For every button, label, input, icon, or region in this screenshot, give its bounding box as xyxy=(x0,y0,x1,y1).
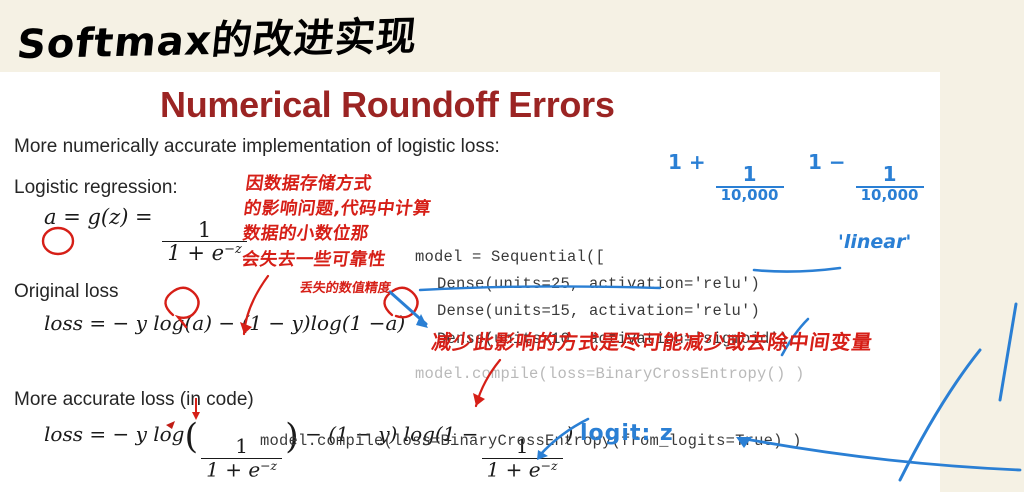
acc-loss-open-paren: ( xyxy=(184,417,198,457)
blue-fraction-minus-prefix: 1 − xyxy=(808,150,846,174)
slide-panel: Numerical Roundoff Errors More numerical… xyxy=(0,72,940,492)
annotation-zh-line-1: 因数据存储方式 xyxy=(244,170,374,195)
annotation-zh-main-note: 减少此影响的方式是尽可能减少或去除中间变量 xyxy=(430,326,875,355)
annotation-zh-line-3: 数据的小数位那 xyxy=(241,220,371,245)
page-title: Softmax的改进实现 xyxy=(15,4,421,70)
lead-text: More numerically accurate implementation… xyxy=(14,136,500,158)
acc-loss-term1: − y log xyxy=(112,422,184,446)
annotation-blue-logit: logit: z xyxy=(580,421,674,446)
code-line-sequential: model = Sequential([ xyxy=(415,248,605,266)
annotation-blue-fraction-minus: 1 − 1 10,000 xyxy=(808,150,927,203)
blue-fraction-plus-body: 1 10,000 xyxy=(716,164,784,203)
sigmoid-fraction: 1 1 + e−z xyxy=(162,219,247,265)
annotation-blue-fraction-plus: 1 + 1 10,000 xyxy=(668,150,787,203)
orig-loss-close: ) xyxy=(397,311,405,335)
code-line-compile-logits: model.compile(loss=BinaryCrossEntropy(fr… xyxy=(260,432,802,450)
annotation-zh-line-2: 的影响问题,代码中计算 xyxy=(242,195,433,220)
annotation-zh-small-red: 丢失的数值精度 xyxy=(299,277,393,296)
eq-logreg-mid: = g(z) = xyxy=(63,205,152,229)
blue-stroke-right-2 xyxy=(1000,304,1016,400)
screenshot-root: Softmax的改进实现 Numerical Roundoff Errors M… xyxy=(0,0,1024,492)
orig-loss-term2: ) − (1 − y)log(1 − xyxy=(204,311,385,335)
code-line-dense-25: Dense(units=25, activation='relu') xyxy=(437,275,760,293)
equation-original-loss: loss = − y log(a) − (1 − y)log(1 −a) xyxy=(44,311,405,335)
blue-fraction-plus-prefix: 1 + xyxy=(668,150,706,174)
slide-title: Numerical Roundoff Errors xyxy=(160,84,615,126)
orig-loss-term1: − y log( xyxy=(112,311,192,335)
equation-logistic-regression: a = g(z) = 1 1 + e−z xyxy=(44,205,250,265)
eq-logreg-lhs: a xyxy=(44,205,57,229)
orig-loss-a1: a xyxy=(192,311,204,335)
code-line-compile-old: model.compile(loss=BinaryCrossEntropy() … xyxy=(415,365,805,383)
blue-fraction-minus-body: 1 10,000 xyxy=(856,164,924,203)
orig-loss-lhs: loss xyxy=(44,311,83,335)
annotation-zh-line-4: 会失去一些可靠性 xyxy=(240,246,388,271)
sigmoid-numerator: 1 xyxy=(193,219,216,241)
code-line-dense-15: Dense(units=15, activation='relu') xyxy=(437,302,760,320)
accurate-loss-heading: More accurate loss (in code) xyxy=(14,389,254,411)
acc-loss-eq: = xyxy=(89,422,106,446)
original-loss-heading: Original loss xyxy=(14,281,119,303)
sigmoid-denominator: 1 + e−z xyxy=(162,241,247,264)
orig-loss-a2: a xyxy=(385,311,397,335)
annotation-blue-linear: 'linear' xyxy=(838,231,911,253)
logistic-regression-heading: Logistic regression: xyxy=(14,177,178,199)
orig-loss-eq: = xyxy=(89,311,106,335)
acc-loss-lhs: loss xyxy=(44,422,83,446)
